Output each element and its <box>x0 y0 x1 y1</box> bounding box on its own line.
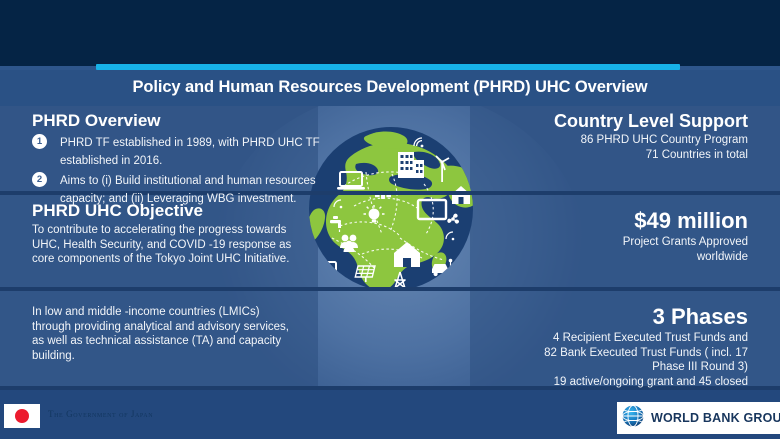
country-support-heading: Country Level Support <box>458 110 748 132</box>
list-item: 1 PHRD TF established in 1989, with PHRD… <box>32 133 332 169</box>
section-divider-2 <box>0 287 780 291</box>
phrd-overview-heading: PHRD Overview <box>32 110 332 131</box>
country-support-line2: 71 Countries in total <box>458 148 748 163</box>
phrd-scope-section: In low and middle -income countries (LMI… <box>32 305 290 363</box>
phrd-objective-text: To contribute to accelerating the progre… <box>32 223 292 267</box>
funding-line1: Project Grants Approved <box>458 235 748 250</box>
japan-flag-disc <box>15 409 29 423</box>
list-number-badge: 2 <box>32 172 47 187</box>
funding-section: $49 million Project Grants Approved worl… <box>458 208 748 264</box>
list-number-badge: 1 <box>32 134 47 149</box>
phases-line2: 82 Bank Executed Trust Funds ( incl. 17 <box>448 346 748 361</box>
funding-amount: $49 million <box>458 208 748 233</box>
header-accent-line <box>96 64 680 70</box>
page-subtitle: Policy and Human Resources Development (… <box>0 78 780 97</box>
phases-line4: 19 active/ongoing grant and 45 closed <box>448 375 748 390</box>
list-item-text: PHRD TF established in 1989, with PHRD U… <box>60 137 320 167</box>
phases-line3: Phase III Round 3) <box>448 360 748 375</box>
phrd-objective-heading: PHRD UHC Objective <box>32 200 292 221</box>
government-of-japan-label: The Government of Japan <box>48 409 153 419</box>
phrd-objective-section: PHRD UHC Objective To contribute to acce… <box>32 200 292 267</box>
slide-canvas: OVERVIEW – PHRD UHC WINDOW SUPPORT Polic… <box>0 0 780 439</box>
world-bank-globe-icon <box>621 404 645 433</box>
phases-line1: 4 Recipient Executed Trust Funds and <box>448 331 748 346</box>
phases-heading: 3 Phases <box>448 304 748 329</box>
funding-line2: worldwide <box>458 250 748 265</box>
japan-flag-icon <box>4 404 40 428</box>
phases-section: 3 Phases 4 Recipient Executed Trust Fund… <box>448 304 748 389</box>
phrd-overview-section: PHRD Overview 1 PHRD TF established in 1… <box>32 110 332 209</box>
world-bank-group-label: WORLD BANK GROUP <box>651 411 780 425</box>
phrd-scope-text: In low and middle -income countries (LMI… <box>32 305 290 363</box>
country-support-section: Country Level Support 86 PHRD UHC Countr… <box>458 110 748 162</box>
country-support-line1: 86 PHRD UHC Country Program <box>458 133 748 148</box>
phrd-overview-list: 1 PHRD TF established in 1989, with PHRD… <box>32 133 332 207</box>
world-bank-group-logo: WORLD BANK GROUP <box>617 402 780 434</box>
header-bar <box>0 0 780 66</box>
